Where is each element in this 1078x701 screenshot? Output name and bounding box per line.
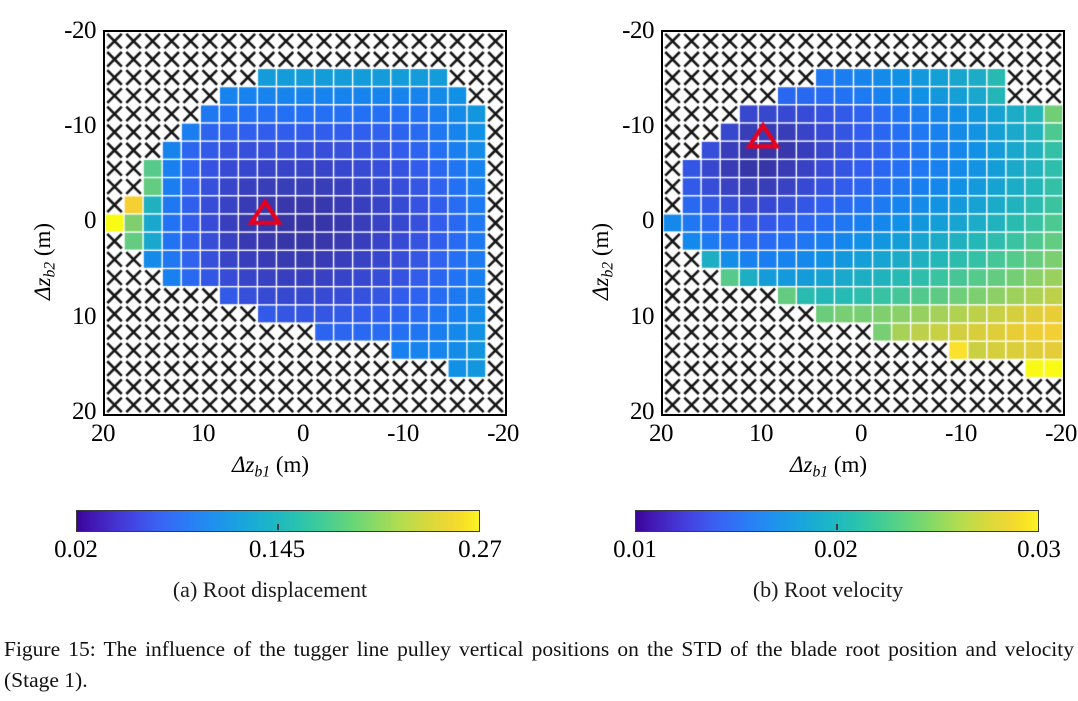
x-tick-b-0: 20	[649, 420, 673, 448]
subcaption-b: (b) Root velocity	[753, 577, 903, 603]
x-tick-a-0: 20	[91, 420, 115, 448]
x-tick-b-3: -10	[945, 420, 977, 448]
x-tick-b-1: 10	[749, 420, 773, 448]
y-tick-a-1: -10	[38, 112, 96, 140]
y-tick-b-1: -10	[596, 112, 654, 140]
y-axis-var-b: z	[588, 278, 613, 287]
heatmap-grid-b	[663, 32, 1063, 414]
x-axis-unit-b: (m)	[834, 452, 867, 477]
y-tick-b-4: 20	[596, 398, 654, 426]
y-axis-delta-a: Δ	[30, 287, 55, 301]
y-axis-unit-b: (m)	[588, 223, 613, 256]
x-tick-a-1: 10	[191, 420, 215, 448]
x-tick-a-2: 0	[297, 420, 309, 448]
heatmap-grid-a	[105, 32, 505, 414]
colorbar-label-max-b: 0.03	[1017, 536, 1061, 564]
colorbar-label-mid-a: 0.145	[249, 536, 305, 564]
colorbar-label-min-a: 0.02	[54, 536, 98, 564]
y-tick-a-4: 20	[38, 398, 96, 426]
heatmap-axes-b	[661, 30, 1065, 416]
y-axis-var-a: z	[30, 278, 55, 287]
y-axis-title-a: Δzb2 (m)	[30, 223, 59, 300]
y-tick-a-3: 10	[38, 303, 96, 331]
x-tick-b-4: -20	[1045, 420, 1077, 448]
x-axis-delta-a: Δ	[232, 452, 246, 477]
x-axis-sub-b: b1	[812, 463, 828, 480]
heatmap-axes-a	[103, 30, 507, 416]
x-axis-sub-a: b1	[254, 463, 270, 480]
figure-caption: Figure 15: The influence of the tugger l…	[4, 634, 1074, 695]
subcaption-a: (a) Root displacement	[173, 577, 367, 603]
colorbar-label-min-b: 0.01	[613, 536, 657, 564]
y-axis-unit-a: (m)	[30, 223, 55, 256]
colorbar-tick-mid-b	[836, 524, 838, 530]
y-axis-sub-b: b2	[599, 262, 616, 278]
x-axis-title-b: Δzb1 (m)	[790, 452, 867, 481]
figure-15: -20 -10 0 10 20 20 10 0 -10 -20 Δzb2 (m)…	[0, 0, 1078, 701]
colorbar-tick-mid-a	[277, 524, 279, 530]
y-tick-b-3: 10	[596, 303, 654, 331]
y-axis-sub-a: b2	[41, 262, 58, 278]
colorbar-label-max-a: 0.27	[458, 536, 502, 564]
x-axis-title-a: Δzb1 (m)	[232, 452, 309, 481]
x-tick-a-4: -20	[487, 420, 519, 448]
x-axis-delta-b: Δ	[790, 452, 804, 477]
y-tick-a-0: -20	[38, 17, 96, 45]
y-tick-b-0: -20	[596, 17, 654, 45]
colorbar-label-mid-b: 0.02	[814, 536, 858, 564]
x-tick-a-3: -10	[387, 420, 419, 448]
y-axis-title-b: Δzb2 (m)	[588, 223, 617, 300]
x-tick-b-2: 0	[855, 420, 867, 448]
y-axis-delta-b: Δ	[588, 287, 613, 301]
x-axis-unit-a: (m)	[276, 452, 309, 477]
